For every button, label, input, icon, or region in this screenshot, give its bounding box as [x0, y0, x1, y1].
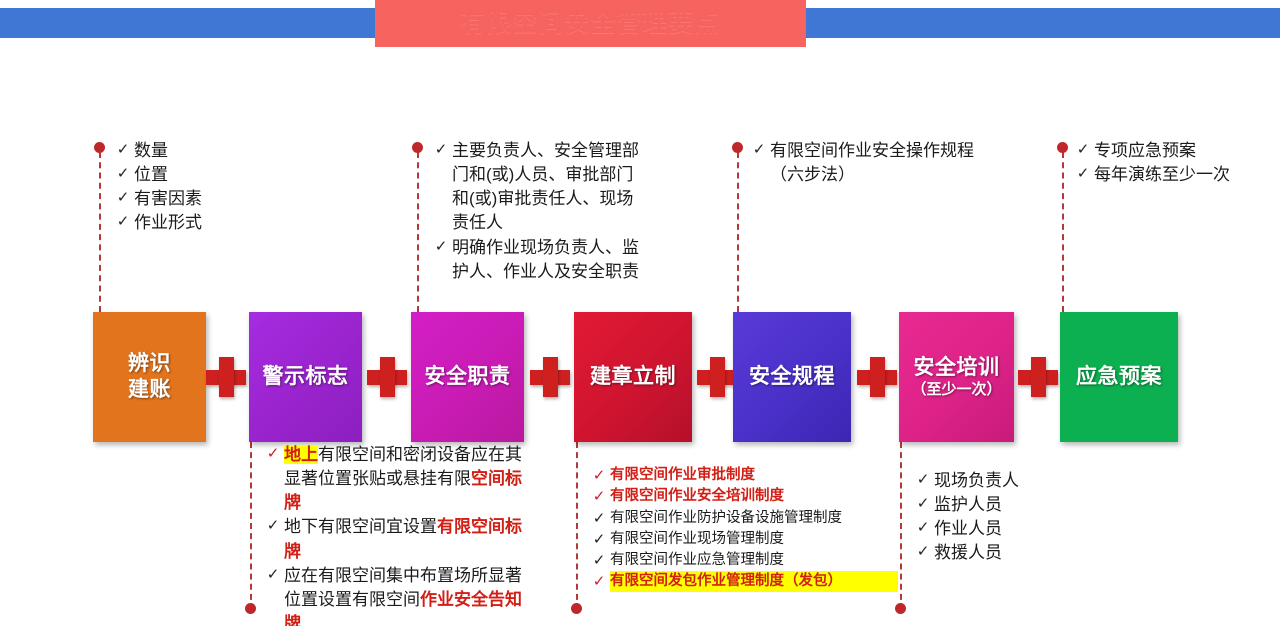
list-item: ✓ 监护人员 — [912, 493, 1092, 517]
step-label: 警示标志 — [263, 364, 349, 390]
list-item: ✓ 有限空间作业审批制度 — [588, 465, 898, 486]
step-establish-rules[interactable]: 建章立制 — [574, 312, 692, 442]
check-icon: ✓ — [588, 550, 610, 571]
check-icon: ✓ — [912, 493, 934, 514]
plus-icon — [530, 357, 570, 397]
plus-icon — [1018, 357, 1058, 397]
step-label: 辨识 建账 — [128, 351, 171, 402]
list-item-label: 救援人员 — [934, 541, 1092, 565]
list-item-label: 有限空间作业审批制度 — [610, 465, 898, 486]
list-item-label: 有限空间作业安全培训制度 — [610, 486, 898, 507]
list-item: ✓ 地下有限空间宜设置有限空间标牌 — [262, 515, 522, 563]
plus-icon — [697, 357, 737, 397]
list-item-label: 有限空间作业应急管理制度 — [610, 550, 898, 571]
list-item: ✓ 有限空间作业防护设备设施管理制度 — [588, 508, 898, 529]
list-item-label: 应在有限空间集中布置场所显著位置设置有限空间作业安全告知牌 — [284, 564, 522, 626]
check-icon: ✓ — [912, 469, 934, 490]
step-label: 应急预案 — [1076, 364, 1162, 390]
step-label: 建章立制 — [590, 364, 676, 390]
step-label: 安全培训 — [914, 355, 1000, 381]
list-item: ✓ 作业人员 — [912, 517, 1092, 541]
check-icon: ✓ — [912, 517, 934, 538]
bottom-notes-warning-sign: ✓ 地上有限空间和密闭设备应在其显著位置张贴或悬挂有限空间标牌 ✓ 地下有限空间… — [262, 443, 522, 626]
slide-canvas: 有限空间安全管理要点 ✓ 数量 ✓ 位置 ✓ 有害因素 ✓ 作业形式 — [0, 0, 1280, 626]
list-item-label: 有限空间作业防护设备设施管理制度 — [610, 508, 898, 529]
step-emergency-plan[interactable]: 应急预案 — [1060, 312, 1178, 442]
step-safety-duty[interactable]: 安全职责 — [411, 312, 524, 442]
check-icon: ✓ — [262, 564, 284, 585]
list-item-label: 监护人员 — [934, 493, 1092, 517]
step-label: 安全职责 — [425, 364, 511, 390]
check-icon: ✓ — [588, 465, 610, 486]
check-icon: ✓ — [588, 529, 610, 550]
plus-icon — [857, 357, 897, 397]
step-sublabel: （至少一次） — [911, 381, 1001, 399]
list-item-label: 地上有限空间和密闭设备应在其显著位置张贴或悬挂有限空间标牌 — [284, 443, 522, 515]
list-item: ✓ 有限空间作业安全培训制度 — [588, 486, 898, 507]
plus-icon — [206, 357, 246, 397]
step-label: 安全规程 — [749, 364, 835, 390]
list-item: ✓ 现场负责人 — [912, 469, 1092, 493]
plus-icon — [367, 357, 407, 397]
check-icon: ✓ — [912, 541, 934, 562]
list-item-label: 地下有限空间宜设置有限空间标牌 — [284, 515, 522, 563]
bottom-notes-establish-rules: ✓ 有限空间作业审批制度 ✓ 有限空间作业安全培训制度 ✓ 有限空间作业防护设备… — [588, 465, 898, 593]
check-icon: ✓ — [588, 571, 610, 592]
check-icon: ✓ — [262, 515, 284, 536]
list-item: ✓ 有限空间作业应急管理制度 — [588, 550, 898, 571]
list-item-label: 有限空间作业现场管理制度 — [610, 529, 898, 550]
check-icon: ✓ — [588, 508, 610, 529]
step-warning-sign[interactable]: 警示标志 — [249, 312, 362, 442]
list-item: ✓ 有限空间作业现场管理制度 — [588, 529, 898, 550]
step-safety-training[interactable]: 安全培训 （至少一次） — [899, 312, 1014, 442]
list-item: ✓ 有限空间发包作业管理制度（发包） — [588, 571, 898, 592]
check-icon: ✓ — [588, 486, 610, 507]
bottom-notes-training: ✓ 现场负责人 ✓ 监护人员 ✓ 作业人员 ✓ 救援人员 — [912, 469, 1092, 566]
list-item: ✓ 地上有限空间和密闭设备应在其显著位置张贴或悬挂有限空间标牌 — [262, 443, 522, 515]
list-item-label: 有限空间发包作业管理制度（发包） — [610, 571, 898, 592]
check-icon: ✓ — [262, 443, 284, 464]
list-item-label: 作业人员 — [934, 517, 1092, 541]
list-item-label: 现场负责人 — [934, 469, 1092, 493]
step-safety-procedure[interactable]: 安全规程 — [733, 312, 851, 442]
list-item: ✓ 应在有限空间集中布置场所显著位置设置有限空间作业安全告知牌 — [262, 564, 522, 626]
list-item: ✓ 救援人员 — [912, 541, 1092, 565]
step-identify-ledger[interactable]: 辨识 建账 — [93, 312, 206, 442]
